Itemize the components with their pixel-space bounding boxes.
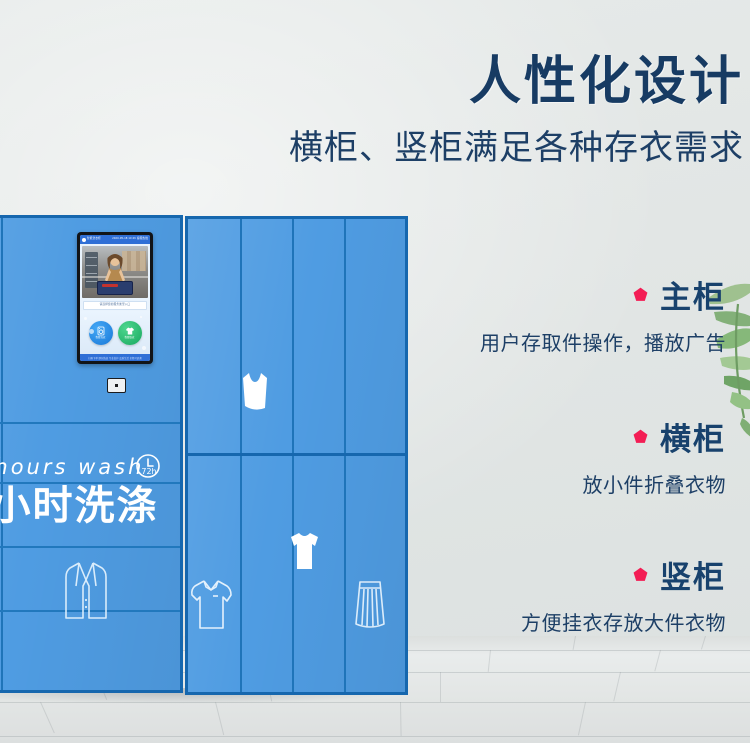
kiosk-advertisement-photo bbox=[82, 246, 148, 298]
laundry-basket bbox=[97, 281, 133, 295]
dress-shirt-icon bbox=[189, 576, 233, 634]
suit-icon bbox=[63, 560, 109, 622]
feature-title: 横柜 bbox=[660, 414, 726, 459]
feature-desc: 用户存取件操作，播放广告 bbox=[480, 327, 726, 356]
page-subtitle: 横柜、竖柜满足各种存衣需求 bbox=[224, 130, 744, 167]
feature-vertical-cabinet: 竖柜 方便挂衣存放大件衣物 bbox=[521, 552, 726, 636]
kiosk-footer: 扫码下单 即刻洗衣 专业洗护 品质生活 全程可追溯 bbox=[80, 354, 150, 361]
brand-mark-icon bbox=[82, 238, 86, 242]
qr-scanner-icon[interactable] bbox=[107, 378, 126, 393]
feature-main-cabinet: 主柜 用户存取件操作，播放广告 bbox=[480, 272, 726, 356]
skirt-icon bbox=[353, 578, 387, 630]
page-title: 人性化设计 bbox=[284, 56, 744, 108]
kiosk-wash-label: 我要洗衣 bbox=[96, 337, 106, 339]
kiosk-brand: 智能洗衣柜 bbox=[82, 238, 101, 242]
kiosk-action-area: 我要洗衣 我要取衣 bbox=[80, 311, 150, 354]
pentagon-dot-icon bbox=[633, 567, 648, 582]
washing-machine-icon bbox=[96, 326, 106, 336]
kiosk-topbar: 智能洗衣柜 2023-05-18 10:46 客服热线 bbox=[80, 235, 150, 244]
feature-desc: 放小件折叠衣物 bbox=[583, 469, 727, 498]
feature-title-row: 竖柜 bbox=[521, 552, 726, 597]
kiosk-screen[interactable]: 智能洗衣柜 2023-05-18 10:46 客服热线 请选择您的服务 bbox=[80, 235, 150, 361]
tshirt-icon bbox=[288, 530, 321, 572]
kiosk-pickup-label: 我要取衣 bbox=[125, 337, 135, 339]
feature-horizontal-cabinet: 横柜 放小件折叠衣物 bbox=[583, 414, 727, 498]
feature-title: 竖柜 bbox=[660, 552, 726, 597]
feature-title-row: 主柜 bbox=[480, 272, 726, 317]
feature-title: 主柜 bbox=[660, 272, 726, 317]
kiosk-display[interactable]: 智能洗衣柜 2023-05-18 10:46 客服热线 请选择您的服务 bbox=[77, 232, 153, 364]
slogan-chinese: 72小时洗涤 bbox=[0, 482, 177, 530]
pentagon-dot-icon bbox=[633, 287, 648, 302]
kiosk-status: 2023-05-18 10:46 客服热线 bbox=[112, 238, 148, 241]
kiosk-banner: 请选择您的服务类型入口 bbox=[83, 301, 147, 310]
tank-top-icon bbox=[240, 370, 270, 412]
pentagon-dot-icon bbox=[633, 429, 648, 444]
clock-72h-icon: 72h bbox=[133, 450, 163, 480]
svg-text:72h: 72h bbox=[141, 467, 156, 476]
tshirt-icon bbox=[125, 326, 135, 336]
feature-title-row: 横柜 bbox=[583, 414, 727, 459]
feature-desc: 方便挂衣存放大件衣物 bbox=[521, 607, 726, 636]
poster-canvas: 人性化设计 横柜、竖柜满足各种存衣需求 主柜 用户存取件操作，播放广告 横柜 放… bbox=[0, 0, 750, 743]
kiosk-pickup-button[interactable]: 我要取衣 bbox=[118, 321, 142, 345]
